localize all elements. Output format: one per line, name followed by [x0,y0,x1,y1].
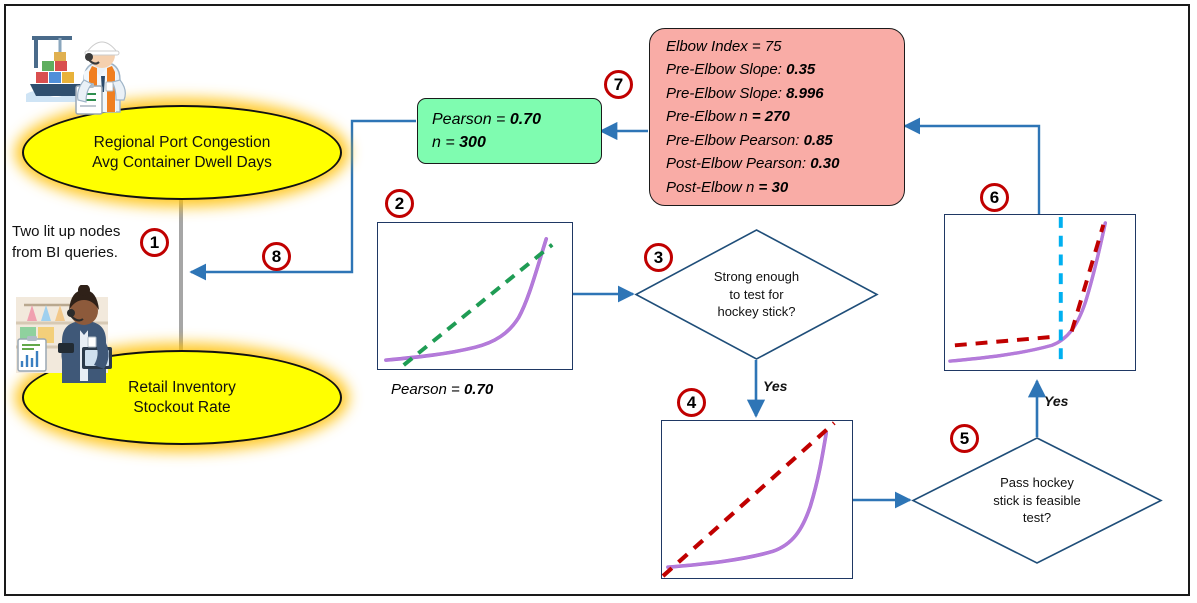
pink-row-0-label: Elbow Index = [666,38,765,55]
pink-row-2-label: Pre-Elbow Slope: [666,85,786,102]
annotation-line2: from BI queries. [12,242,157,263]
chart-6-post-elbow-slope-fit [1072,225,1104,332]
step-badge-7[interactable]: 7 [604,70,633,99]
decision-5-line1: Pass hockey [993,474,1080,492]
step-badge-5[interactable]: 5 [950,424,979,453]
decision-3-line2: to test for [714,286,799,304]
decision-3-line3: hockey stick? [714,303,799,321]
retail-worker-icon [14,285,129,385]
node-retail-line2: Stockout Rate [128,398,236,418]
pink-row-4-label: Pre-Elbow Pearson: [666,132,804,149]
pink-row-4-value: 0.85 [804,132,833,149]
decision-3-line1: Strong enough [714,268,799,286]
step-badge-1[interactable]: 1 [140,228,169,257]
step-badge-6[interactable]: 6 [980,183,1009,212]
node-retail-line1: Retail Inventory [128,378,236,398]
chart-2-observed-curve [386,239,546,360]
chart-4-panel[interactable] [661,420,853,579]
pink-row-6-value: = 30 [759,179,789,196]
decision-5-label: Pass hockey stick is feasible test? [911,436,1163,565]
decision-5-line3: test? [993,509,1080,527]
elbow-statistics-box[interactable]: Elbow Index = 75 Pre-Elbow Slope: 0.35 P… [649,28,905,206]
port-worker-icon [22,28,132,120]
pink-row-3-label: Pre-Elbow n [666,108,752,125]
green-box-n-row: n = 300 [432,131,587,154]
pink-row-3-value: = 270 [752,108,790,125]
pearson-summary-box[interactable]: Pearson = 0.70 n = 300 [417,98,602,164]
pink-row-0: Elbow Index = 75 [666,35,888,59]
chart-2-caption-label: Pearson = [391,381,464,398]
chart-2-plot [378,223,572,369]
pink-row-3: Pre-Elbow n = 270 [666,105,888,129]
decision-3-label: Strong enough to test for hockey stick? [634,228,879,361]
decision-strong-enough[interactable]: Strong enough to test for hockey stick? [634,228,879,361]
annotation-two-lit-up-nodes: Two lit up nodes from BI queries. [12,221,157,263]
annotation-line1: Two lit up nodes [12,221,157,242]
pink-row-4: Pre-Elbow Pearson: 0.85 [666,129,888,153]
chart-6-plot [945,215,1135,370]
green-box-n-label: n = [432,134,459,151]
pink-row-6: Post-Elbow n = 30 [666,176,888,200]
chart-2-caption-value: 0.70 [464,381,493,398]
step-badge-8[interactable]: 8 [262,242,291,271]
chart-2-caption: Pearson = 0.70 [391,381,493,398]
pink-row-5-label: Post-Elbow Pearson: [666,155,810,172]
chart-4-plot [662,421,852,578]
decision-5-line2: stick is feasible [993,492,1080,510]
green-box-n-value: 300 [459,134,486,151]
green-box-pearson-label: Pearson = [432,111,510,128]
pink-row-5: Post-Elbow Pearson: 0.30 [666,152,888,176]
edge-label-yes-3-to-4: Yes [763,378,787,394]
chart-2-panel[interactable] [377,222,573,370]
chart-6-pre-elbow-slope-fit [955,336,1058,345]
diagram-canvas: Regional Port Congestion Avg Container D… [0,0,1197,603]
pink-row-2: Pre-Elbow Slope: 8.996 [666,82,888,106]
node-port-line2: Avg Container Dwell Days [92,153,272,173]
pink-row-5-value: 0.30 [810,155,839,172]
green-box-pearson-row: Pearson = 0.70 [432,108,587,131]
pink-row-1: Pre-Elbow Slope: 0.35 [666,58,888,82]
chart-2-observed-curve-highlight [386,239,546,360]
edge-label-yes-5-to-6: Yes [1044,393,1068,409]
chart-6-panel[interactable] [944,214,1136,371]
pink-row-2-value: 8.996 [786,85,824,102]
green-box-pearson-value: 0.70 [510,111,541,128]
step-badge-4[interactable]: 4 [677,388,706,417]
decision-pass-hockey-stick[interactable]: Pass hockey stick is feasible test? [911,436,1163,565]
pink-row-6-label: Post-Elbow n [666,179,759,196]
chart-4-linear-fit [663,423,834,576]
pink-row-1-label: Pre-Elbow Slope: [666,61,786,78]
node-port-line1: Regional Port Congestion [92,133,272,153]
pink-row-0-value: 75 [765,38,782,55]
pink-row-1-value: 0.35 [786,61,815,78]
step-badge-3[interactable]: 3 [644,243,673,272]
step-badge-2[interactable]: 2 [385,189,414,218]
